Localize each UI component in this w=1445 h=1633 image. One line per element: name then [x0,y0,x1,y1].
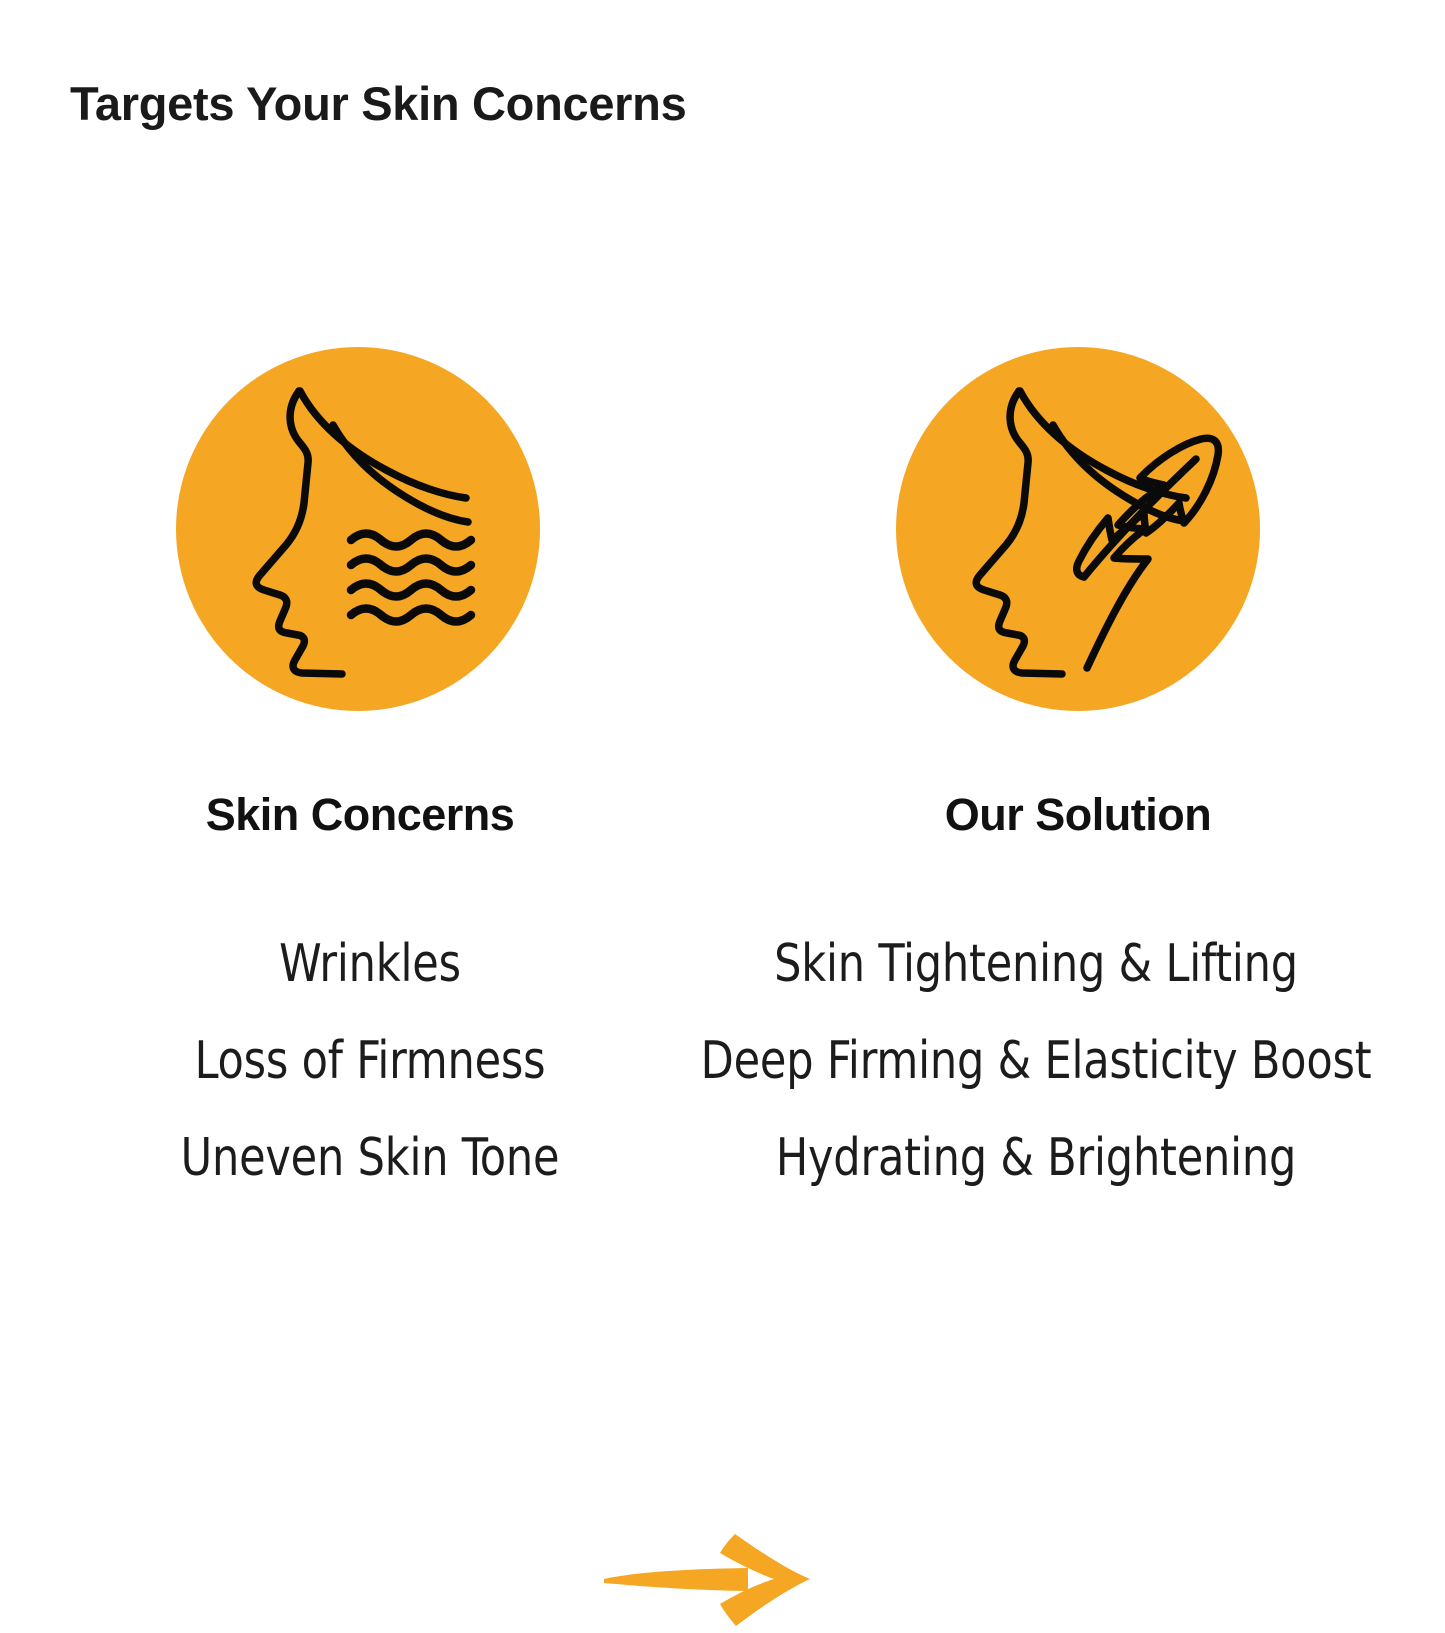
concern-item: Wrinkles [140,915,600,1012]
face-wrinkles-icon [176,347,540,711]
concern-item: Uneven Skin Tone [140,1109,600,1206]
solution-item: Skin Tightening & Lifting [668,915,1404,1012]
list-row: Wrinkles Skin Tightening & Lifting [0,915,1445,1012]
skin-concerns-icon-badge [176,347,540,711]
face-feather-icon [896,347,1260,711]
page-title: Targets Your Skin Concerns [70,78,686,130]
list-row: Loss of Firmness Deep Firming & Elastici… [0,1012,1445,1109]
infographic-canvas: Targets Your Skin Concerns [0,0,1445,1445]
our-solution-heading: Our Solution [878,765,1278,865]
our-solution-icon-badge [896,347,1260,711]
solution-item: Hydrating & Brightening [668,1109,1404,1206]
skin-concerns-heading: Skin Concerns [158,765,562,865]
concern-item: Loss of Firmness [140,1012,600,1109]
comparison-lists: Wrinkles Skin Tightening & Lifting Loss … [0,915,1445,1206]
list-row: Uneven Skin Tone Hydrating & Brightening [0,1109,1445,1206]
solution-item: Deep Firming & Elasticity Boost [668,1012,1404,1109]
arrow-right-icon [596,1527,826,1633]
wrinkle-lines [351,534,471,622]
comparison-heading-row: Skin Concerns Our Solution [0,765,1445,865]
